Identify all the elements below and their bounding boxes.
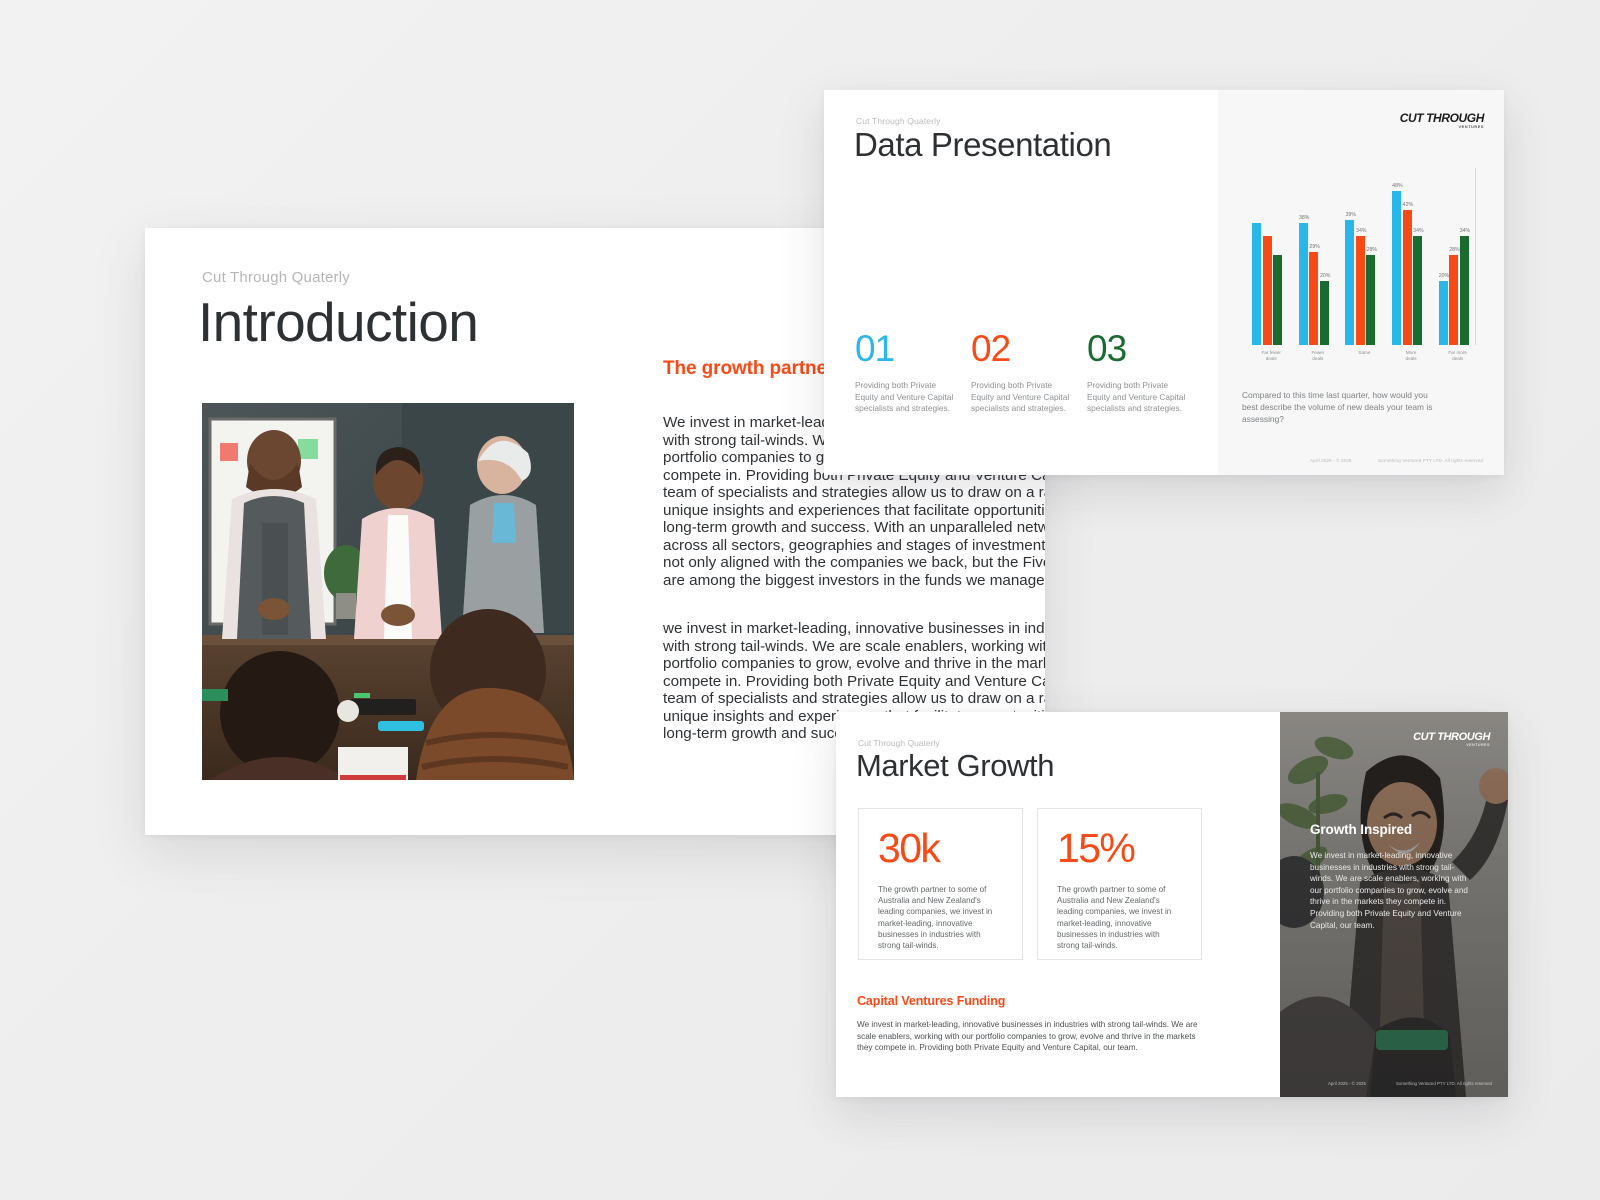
brand-logo: CUT THROUGH VENTURES (1400, 112, 1484, 129)
bar: 20% (1320, 281, 1329, 345)
funding-block: Capital Ventures Funding We invest in ma… (857, 994, 1207, 1054)
stat-description: Providing both Private Equity and Ventur… (1087, 380, 1189, 415)
slide-footer-left: April 2025 - © 2025 (1328, 1081, 1366, 1086)
brand-logo: CUT THROUGH VENTURES (1413, 732, 1490, 748)
bar-group: 20%28%34%Far more deals (1439, 168, 1477, 345)
bar: 28% (1366, 255, 1375, 345)
slide-eyebrow: Cut Through Quaterly (856, 116, 941, 126)
bar-group: 38%29%20%Fewer deals (1299, 168, 1337, 345)
business-meeting-photo-illustration (202, 403, 574, 780)
growth-panel-body: We invest in market-leading, innovative … (1310, 850, 1470, 931)
slide-footer-right: Something Ventured PTY LTD. All rights r… (1378, 458, 1483, 463)
bar-value-label: 48% (1392, 183, 1402, 189)
introduction-photo (202, 403, 574, 780)
page-title: Market Growth (856, 748, 1054, 784)
kpi-card: 15% The growth partner to some of Austra… (1037, 808, 1202, 960)
bar-value-label: 28% (1367, 247, 1377, 253)
x-axis-tick-label: More deals (1388, 350, 1434, 362)
bar-value-label: 20% (1439, 273, 1449, 279)
stat-item: 02 Providing both Private Equity and Ven… (971, 330, 1087, 415)
bar: 39% (1345, 220, 1354, 346)
bar: 48% (1392, 191, 1401, 345)
bar: 28% (1449, 255, 1458, 345)
market-slide-right-panel: CUT THROUGH VENTURES Growth Inspired We … (1280, 712, 1508, 1097)
kpi-description: The growth partner to some of Australia … (878, 884, 1005, 951)
bar-value-label: 28% (1449, 247, 1459, 253)
stat-description: Providing both Private Equity and Ventur… (855, 380, 957, 415)
bar-chart: Far fewer deals38%29%20%Fewer deals39%34… (1232, 168, 1482, 373)
slide-market-growth[interactable]: Cut Through Quaterly Market Growth 30k T… (836, 712, 1508, 1097)
page-title: Data Presentation (854, 126, 1111, 164)
x-axis-tick-label: Same (1341, 350, 1387, 356)
bar (1252, 223, 1261, 345)
slide-eyebrow: Cut Through Quaterly (202, 269, 350, 286)
data-slide-left-column: Cut Through Quaterly Data Presentation 0… (824, 90, 1218, 475)
stat-number: 02 (971, 330, 1073, 368)
x-axis-tick-label: Far fewer deals (1248, 350, 1294, 362)
slide-eyebrow: Cut Through Quaterly (858, 738, 940, 748)
stat-number: 01 (855, 330, 957, 368)
slide-footer-left: April 2025 - © 2025 (1310, 458, 1352, 463)
brand-logo-line-1: CUT THROUGH (1413, 732, 1490, 743)
kpi-card-list: 30k The growth partner to some of Austra… (858, 808, 1202, 960)
x-axis-tick-label: Far more deals (1435, 350, 1481, 362)
brand-logo-line-2: VENTURES (1400, 125, 1484, 129)
bar-value-label: 34% (1413, 228, 1423, 234)
slide-footer-right: Something Ventured PTY LTD. All rights r… (1396, 1081, 1492, 1086)
data-slide-right-column: CUT THROUGH VENTURES Far fewer deals38%2… (1218, 90, 1504, 475)
bar: 38% (1299, 223, 1308, 345)
brand-logo-line-2: VENTURES (1413, 744, 1490, 748)
x-axis-tick-label: Fewer deals (1295, 350, 1341, 362)
bar-group: Far fewer deals (1252, 168, 1290, 345)
bar-group: 48%42%34%More deals (1392, 168, 1430, 345)
bar-value-label: 20% (1320, 273, 1330, 279)
bar: 29% (1309, 252, 1318, 345)
growth-inspired-block: Growth Inspired We invest in market-lead… (1310, 822, 1470, 931)
page-title: Introduction (198, 290, 478, 354)
funding-body: We invest in market-leading, innovative … (857, 1019, 1207, 1054)
bar-chart-plot-area: Far fewer deals38%29%20%Fewer deals39%34… (1242, 168, 1476, 345)
bar-value-label: 34% (1460, 228, 1470, 234)
kpi-card: 30k The growth partner to some of Austra… (858, 808, 1023, 960)
slide-data-presentation[interactable]: Cut Through Quaterly Data Presentation 0… (824, 90, 1504, 475)
stat-item: 01 Providing both Private Equity and Ven… (855, 330, 971, 415)
brand-logo-line-1: CUT THROUGH (1400, 112, 1484, 124)
presentation-mockup-canvas: Cut Through Quaterly Introduction (0, 0, 1600, 1200)
bar: 42% (1403, 210, 1412, 345)
bar: 20% (1439, 281, 1448, 345)
bar-value-label: 38% (1299, 215, 1309, 221)
chart-caption: Compared to this time last quarter, how … (1242, 390, 1442, 425)
bar: 34% (1460, 236, 1469, 345)
bar-value-label: 39% (1346, 212, 1356, 218)
growth-panel-title: Growth Inspired (1310, 822, 1470, 837)
funding-title: Capital Ventures Funding (857, 994, 1207, 1008)
stat-number: 03 (1087, 330, 1189, 368)
bar-value-label: 42% (1403, 202, 1413, 208)
bar (1273, 255, 1282, 345)
bar: 34% (1356, 236, 1365, 345)
kpi-value: 15% (1057, 826, 1184, 870)
stat-list: 01 Providing both Private Equity and Ven… (855, 330, 1203, 415)
bar-group: 39%34%28%Same (1345, 168, 1383, 345)
bar: 34% (1413, 236, 1422, 345)
kpi-description: The growth partner to some of Australia … (1057, 884, 1184, 951)
bar-value-label: 29% (1309, 244, 1319, 250)
stat-item: 03 Providing both Private Equity and Ven… (1087, 330, 1203, 415)
bar-value-label: 34% (1356, 228, 1366, 234)
market-slide-left-column: Cut Through Quaterly Market Growth 30k T… (836, 712, 1280, 1097)
kpi-value: 30k (878, 826, 1005, 870)
bar (1263, 236, 1272, 345)
stat-description: Providing both Private Equity and Ventur… (971, 380, 1073, 415)
